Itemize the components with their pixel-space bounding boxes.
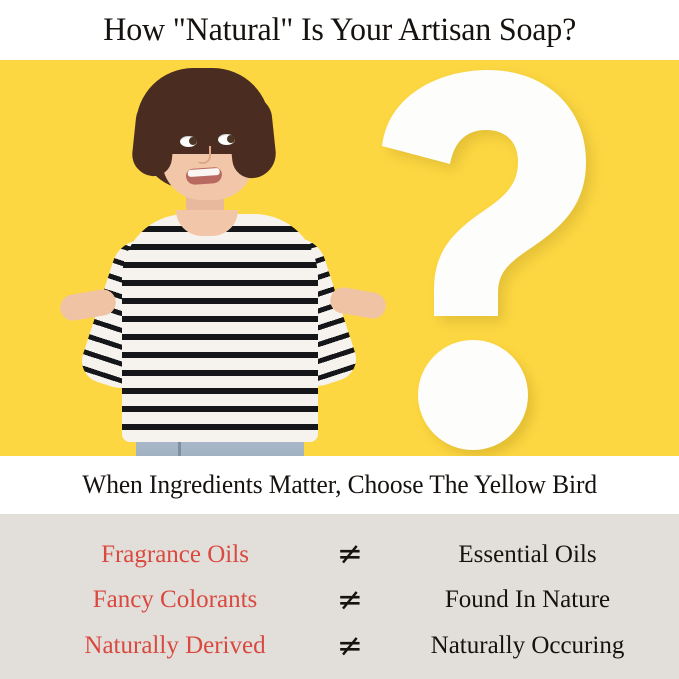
question-mark-dot [418,340,528,450]
comparison-row: Naturally Derived ≠ Naturally Occuring [0,631,679,662]
teeth [188,168,220,177]
pupil-right [227,135,235,143]
comparison-panel: Fragrance Oils ≠ Essential Oils Fancy Co… [0,514,679,679]
hero-image-band [0,60,679,456]
not-equal-icon: ≠ [306,585,394,616]
soap-infographic: How "Natural" Is Your Artisan Soap? [0,0,679,679]
headline-bar: How "Natural" Is Your Artisan Soap? [0,0,679,60]
question-mark-icon [372,68,612,456]
striped-shirt [122,214,318,442]
comparison-left-label: Fancy Colorants [44,586,306,614]
woman-shrugging-photo [58,60,388,456]
comparison-left-label: Naturally Derived [44,632,306,660]
page-title: How "Natural" Is Your Artisan Soap? [103,14,576,47]
mouth [185,167,222,185]
comparison-right-label: Naturally Occuring [394,632,661,660]
not-equal-icon: ≠ [306,631,394,662]
tagline: When Ingredients Matter, Choose The Yell… [82,470,597,500]
comparison-row: Fancy Colorants ≠ Found In Nature [0,585,679,616]
comparison-right-label: Found In Nature [394,586,661,614]
comparison-right-label: Essential Oils [394,541,661,569]
question-mark-hook [372,68,592,318]
tagline-bar: When Ingredients Matter, Choose The Yell… [0,456,679,514]
comparison-left-label: Fragrance Oils [44,541,306,569]
comparison-row: Fragrance Oils ≠ Essential Oils [0,539,679,570]
not-equal-icon: ≠ [306,539,394,570]
pupil-left [189,137,197,145]
hair-front [136,68,270,154]
